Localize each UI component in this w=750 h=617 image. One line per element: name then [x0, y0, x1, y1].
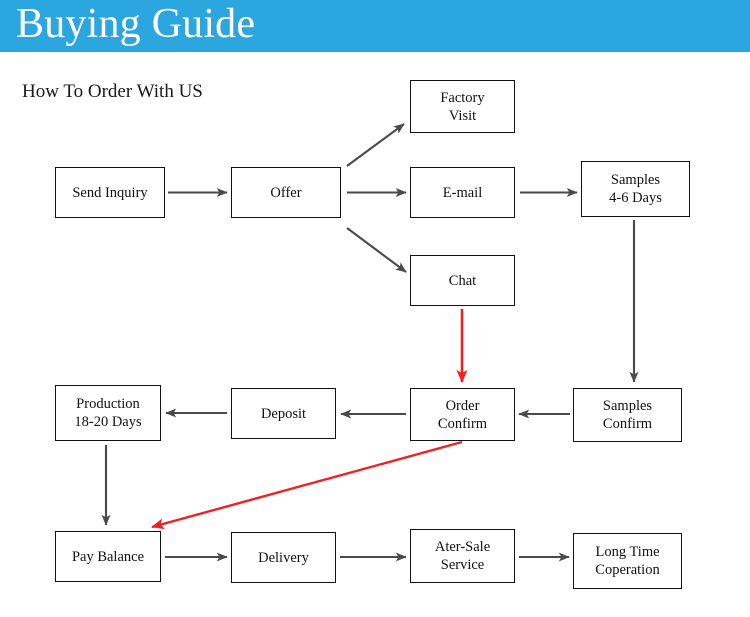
flow-node-offer[interactable]: Offer	[231, 167, 341, 218]
buying-guide-page: Buying Guide How To Order With US	[0, 0, 750, 617]
flow-node-delivery[interactable]: Delivery	[231, 532, 336, 583]
flowchart-connectors	[0, 0, 750, 617]
flow-node-ater-sale-service[interactable]: Ater-Sale Service	[410, 529, 515, 583]
flow-node-production[interactable]: Production 18-20 Days	[55, 385, 161, 441]
flow-node-e-mail[interactable]: E-mail	[410, 167, 515, 218]
flow-node-send-inquiry[interactable]: Send Inquiry	[55, 167, 165, 218]
flow-node-order-confirm[interactable]: Order Confirm	[410, 388, 515, 441]
edge-order-confirm-to-pay-balance-highlight	[152, 442, 462, 527]
edge-offer-to-chat	[347, 228, 406, 272]
flow-node-samples-confirm[interactable]: Samples Confirm	[573, 388, 682, 442]
flow-node-samples-days[interactable]: Samples 4-6 Days	[581, 161, 690, 217]
edge-offer-to-factory-visit	[347, 124, 404, 166]
flow-node-pay-balance[interactable]: Pay Balance	[55, 531, 161, 582]
flow-node-chat[interactable]: Chat	[410, 255, 515, 306]
flow-node-deposit[interactable]: Deposit	[231, 388, 336, 439]
order-process-flowchart: Send Inquiry Offer Factory Visit E-mail …	[0, 0, 750, 617]
flow-node-factory-visit[interactable]: Factory Visit	[410, 80, 515, 133]
flow-node-long-time-coperation[interactable]: Long Time Coperation	[573, 533, 682, 589]
